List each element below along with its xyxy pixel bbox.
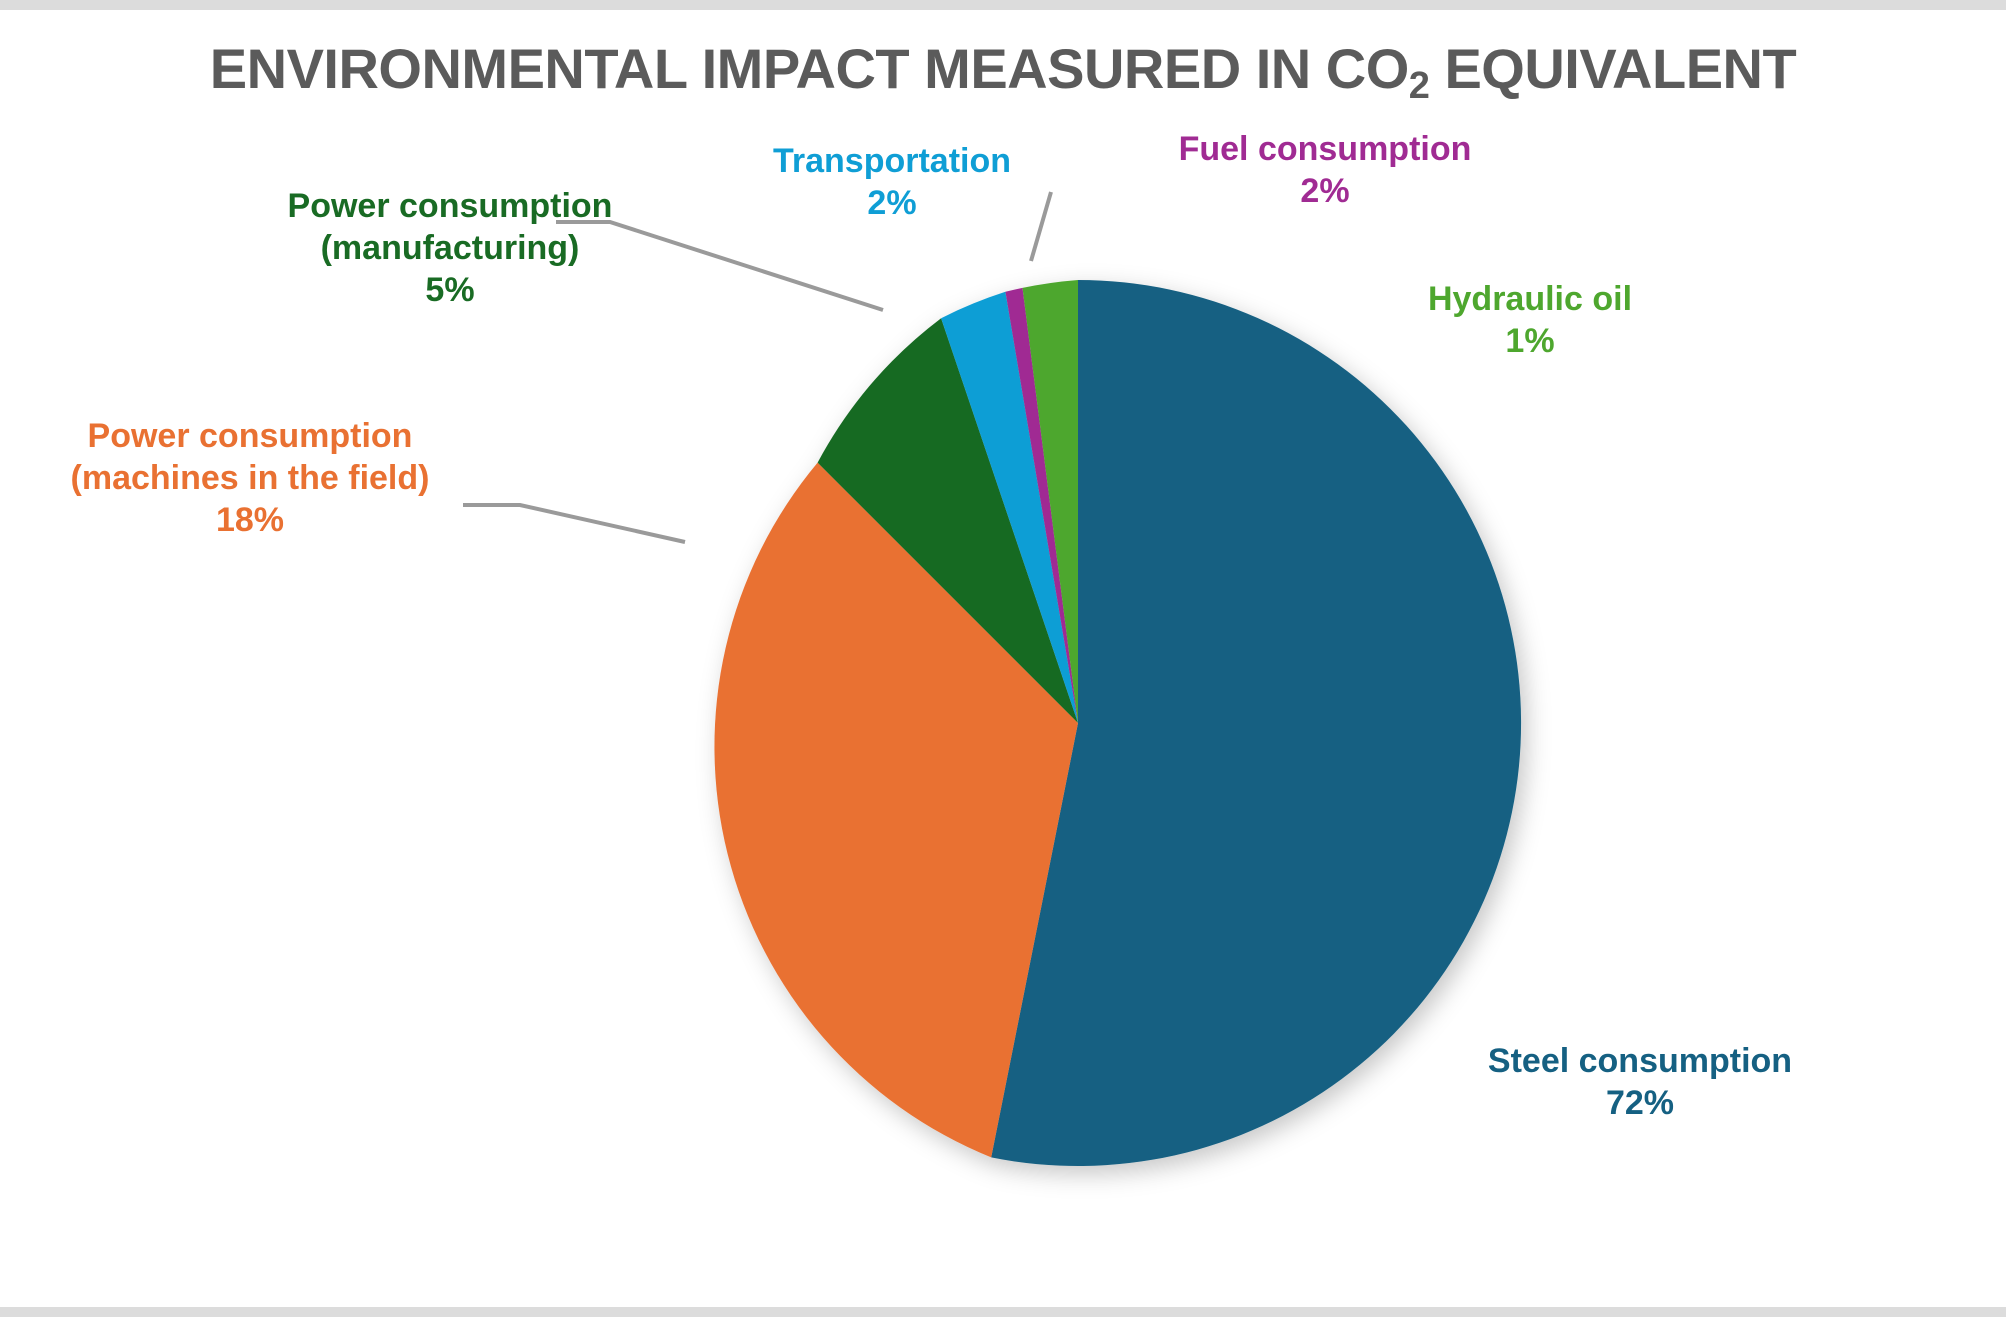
label-power-consumption-manufacturing: Power consumption (manufacturing) 5% [255,185,645,311]
label-transportation: Transportation 2% [742,140,1042,224]
label-percent: 2% [1145,170,1505,212]
label-name: Transportation [773,142,1011,180]
label-name-line2: (machines in the field) [71,459,430,497]
label-name: Hydraulic oil [1428,280,1632,318]
label-percent: 2% [742,182,1042,224]
label-steel-consumption: Steel consumption 72% [1440,1040,1840,1124]
label-name-line1: Power consumption [288,187,613,225]
label-percent: 18% [20,499,480,541]
pie-slices-group [714,280,1521,1166]
label-fuel-consumption: Fuel consumption 2% [1145,128,1505,212]
label-percent: 1% [1380,320,1680,362]
label-power-consumption-field: Power consumption (machines in the field… [20,415,480,541]
label-name: Steel consumption [1488,1042,1792,1080]
label-percent: 72% [1440,1082,1840,1124]
label-name-line1: Power consumption [88,417,413,455]
label-name-line2: (manufacturing) [321,229,580,267]
leader-line-field [463,505,685,542]
label-hydraulic-oil: Hydraulic oil 1% [1380,278,1680,362]
chart-canvas: ENVIRONMENTAL IMPACT MEASURED IN CO2 EQU… [0,0,2006,1317]
label-name: Fuel consumption [1179,130,1472,168]
label-percent: 5% [255,269,645,311]
